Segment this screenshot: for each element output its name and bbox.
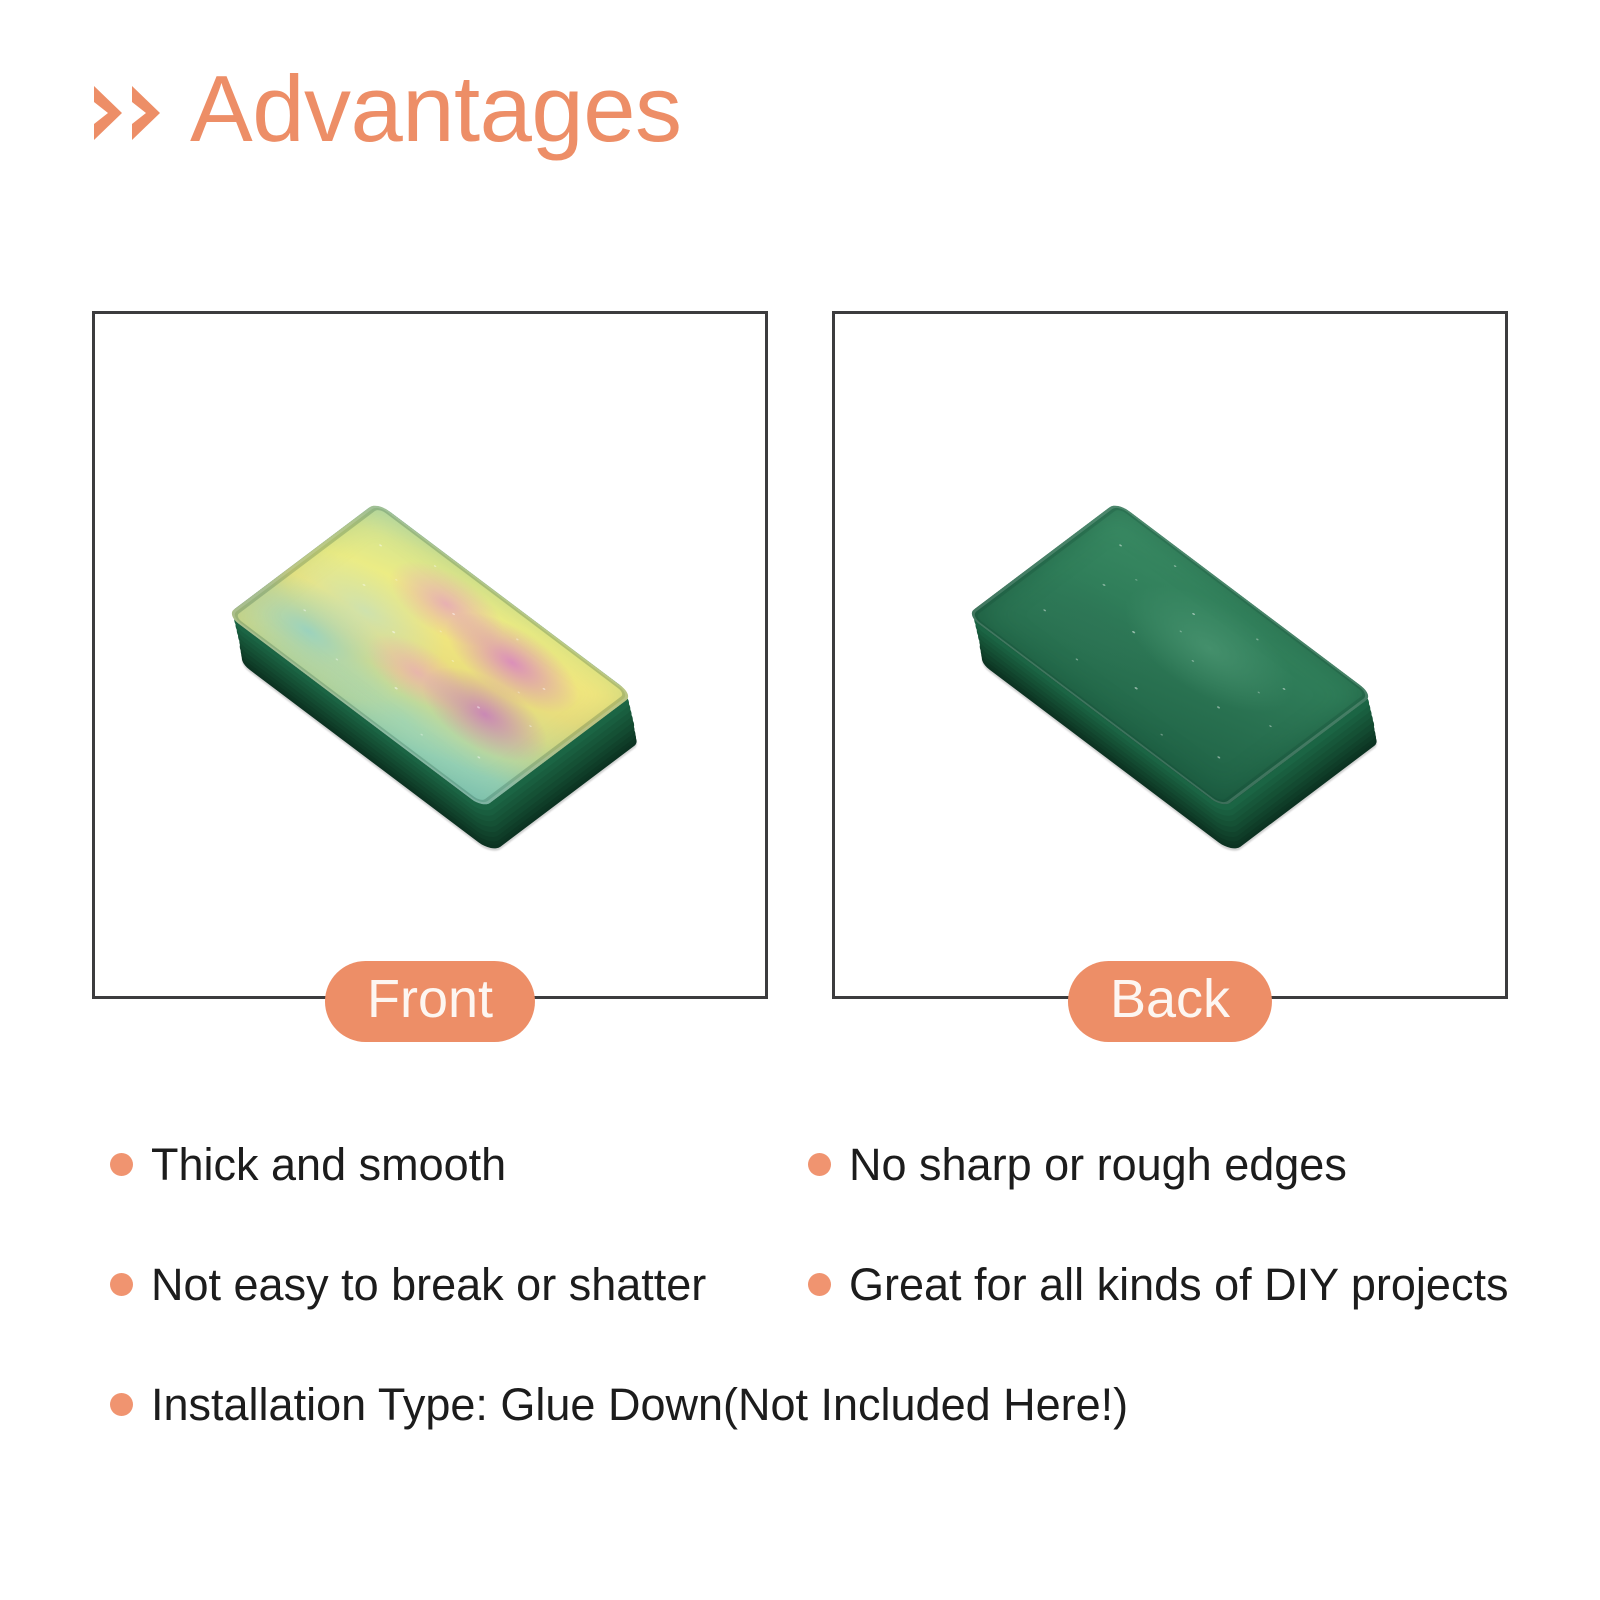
list-item-label: Thick and smooth [151,1140,506,1190]
list-item-label: Not easy to break or shatter [151,1260,706,1310]
list-item-thick-and-smooth: Thick and smooth [92,1140,790,1190]
tile-rim-front [227,502,633,808]
glass-tile-front [215,440,645,870]
bullet-dot-icon [808,1153,831,1176]
list-row-3: Installation Type: Glue Down(Not Include… [92,1380,1532,1500]
product-panel-front: Front [92,311,768,999]
bullet-dot-icon [110,1153,133,1176]
bullet-dot-icon [808,1273,831,1296]
glass-tile-back [955,440,1385,870]
list-row-1: Thick and smooth No sharp or rough edges [92,1140,1532,1260]
tile-top-front [227,502,633,808]
page-header: Advantages [92,62,681,156]
list-item-label: Installation Type: Glue Down(Not Include… [151,1380,1128,1430]
product-image-panels: Front Back [92,311,1508,999]
chevron-right-icon-2 [130,84,164,142]
tile-rim-back [967,502,1373,808]
badge-back: Back [1068,961,1272,1042]
list-item-diy-projects: Great for all kinds of DIY projects [790,1260,1532,1310]
page-title: Advantages [190,62,681,156]
list-item-label: No sharp or rough edges [849,1140,1347,1190]
list-item-no-sharp-edges: No sharp or rough edges [790,1140,1532,1190]
list-item-not-easy-to-break: Not easy to break or shatter [92,1260,790,1310]
product-photo-back [835,314,1505,996]
advantages-list: Thick and smooth No sharp or rough edges… [92,1140,1532,1500]
tile-top-back [967,502,1373,808]
list-row-2: Not easy to break or shatter Great for a… [92,1260,1532,1380]
double-chevron-right-icon [92,84,164,142]
product-photo-front [95,314,765,996]
chevron-right-icon-1 [92,84,126,142]
list-item-installation-type: Installation Type: Glue Down(Not Include… [92,1380,1532,1430]
badge-front: Front [325,961,535,1042]
bullet-dot-icon [110,1393,133,1416]
bullet-dot-icon [110,1273,133,1296]
list-item-label: Great for all kinds of DIY projects [849,1260,1508,1310]
product-panel-back: Back [832,311,1508,999]
